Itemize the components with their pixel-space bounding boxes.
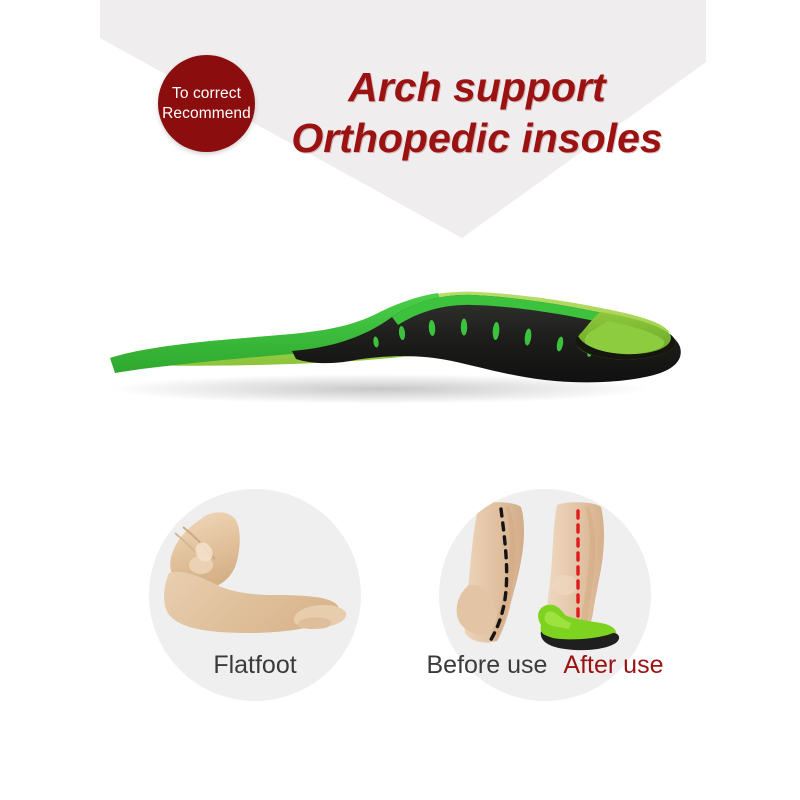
after-use-foot [538, 502, 619, 650]
before-use-label: Before use [427, 650, 548, 680]
after-ankle-bone [552, 575, 578, 595]
comparison-caption-row: Before use After use [420, 648, 670, 682]
after-use-label: After use [563, 650, 663, 680]
headline-line-2: Orthopedic insoles [262, 113, 692, 164]
badge-line-1: To correct [172, 84, 241, 104]
page-title: Arch support Orthopedic insoles [262, 62, 692, 164]
headline-line-1: Arch support [262, 62, 692, 113]
flatfoot-label: Flatfoot [213, 650, 296, 680]
insole-product-image [80, 285, 720, 425]
recommend-badge: To correct Recommend [158, 55, 255, 152]
product-marketing-image: To correct Recommend Arch support Orthop… [0, 0, 800, 800]
flatfoot-caption-row: Flatfoot [149, 648, 361, 682]
before-use-foot [457, 502, 524, 643]
badge-line-2: Recommend [162, 104, 251, 124]
